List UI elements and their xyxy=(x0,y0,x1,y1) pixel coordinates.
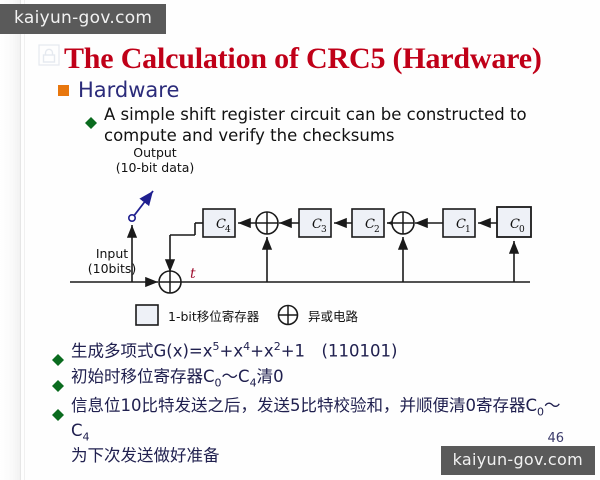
crc5-circuit-diagram: Output (10-bit data) Input (10bits) t xyxy=(60,145,560,335)
input-label-line2: (10bits) xyxy=(88,261,136,276)
input-label-line1: Input xyxy=(96,246,128,261)
legend-xor: 异或电路 xyxy=(279,306,359,325)
legend-register-label: 1-bit移位寄存器 xyxy=(168,309,260,324)
switch-pivot xyxy=(129,215,135,221)
xor-gate-2 xyxy=(392,212,414,234)
register-box-c4: C 4 xyxy=(203,209,235,237)
svg-text:0: 0 xyxy=(519,225,525,235)
diamond-bullet-icon xyxy=(85,111,97,123)
note-initial-clear: 初始时移位寄存器C0～C4清0 xyxy=(52,366,572,391)
note-text: 生成多项式G(x)=x5+x4+x2+1 (110101) xyxy=(71,340,397,362)
watermark-bottom: kaiyun-gov.com xyxy=(441,446,595,475)
slide-canvas: The Calculation of CRC5 (Hardware) Hardw… xyxy=(0,0,600,480)
lock-icon xyxy=(38,44,60,66)
switch-blade xyxy=(133,191,153,217)
register-box-c1: C 1 xyxy=(443,209,475,237)
bullet-level1-hardware: Hardware xyxy=(58,78,179,102)
output-label-line1: Output xyxy=(133,145,177,160)
legend-xor-label: 异或电路 xyxy=(308,309,359,324)
note-generator-polynomial: 生成多项式G(x)=x5+x4+x2+1 (110101) xyxy=(52,340,572,362)
note-text: 初始时移位寄存器C0～C4清0 xyxy=(71,366,284,391)
left-rule-outer xyxy=(20,0,21,480)
svg-text:1: 1 xyxy=(465,225,471,235)
svg-text:2: 2 xyxy=(374,225,380,235)
watermark-top: kaiyun-gov.com xyxy=(0,4,166,34)
register-box-c3: C 3 xyxy=(299,209,331,237)
bullet-level2-description: A simple shift register circuit can be c… xyxy=(85,104,555,146)
diamond-bullet-icon xyxy=(52,348,64,360)
left-edge-shade xyxy=(0,0,20,480)
register-box-c0: C 0 xyxy=(497,207,531,237)
legend-register: 1-bit移位寄存器 xyxy=(136,305,260,325)
page-title: The Calculation of CRC5 (Hardware) xyxy=(64,42,542,76)
bullet-level2-label: A simple shift register circuit can be c… xyxy=(104,104,555,146)
svg-text:4: 4 xyxy=(225,225,231,235)
svg-text:3: 3 xyxy=(321,225,327,235)
diamond-bullet-icon xyxy=(52,374,64,386)
tap-label-t: t xyxy=(190,266,196,282)
output-label-line2: (10-bit data) xyxy=(116,160,195,175)
square-bullet-icon xyxy=(58,85,69,96)
diamond-bullet-icon xyxy=(52,403,64,415)
bullet-level1-label: Hardware xyxy=(78,78,179,102)
xor-gate-1 xyxy=(256,212,278,234)
xor-gate-0 xyxy=(159,271,181,293)
left-rule-inner xyxy=(24,0,25,480)
register-box-c2: C 2 xyxy=(352,209,384,237)
